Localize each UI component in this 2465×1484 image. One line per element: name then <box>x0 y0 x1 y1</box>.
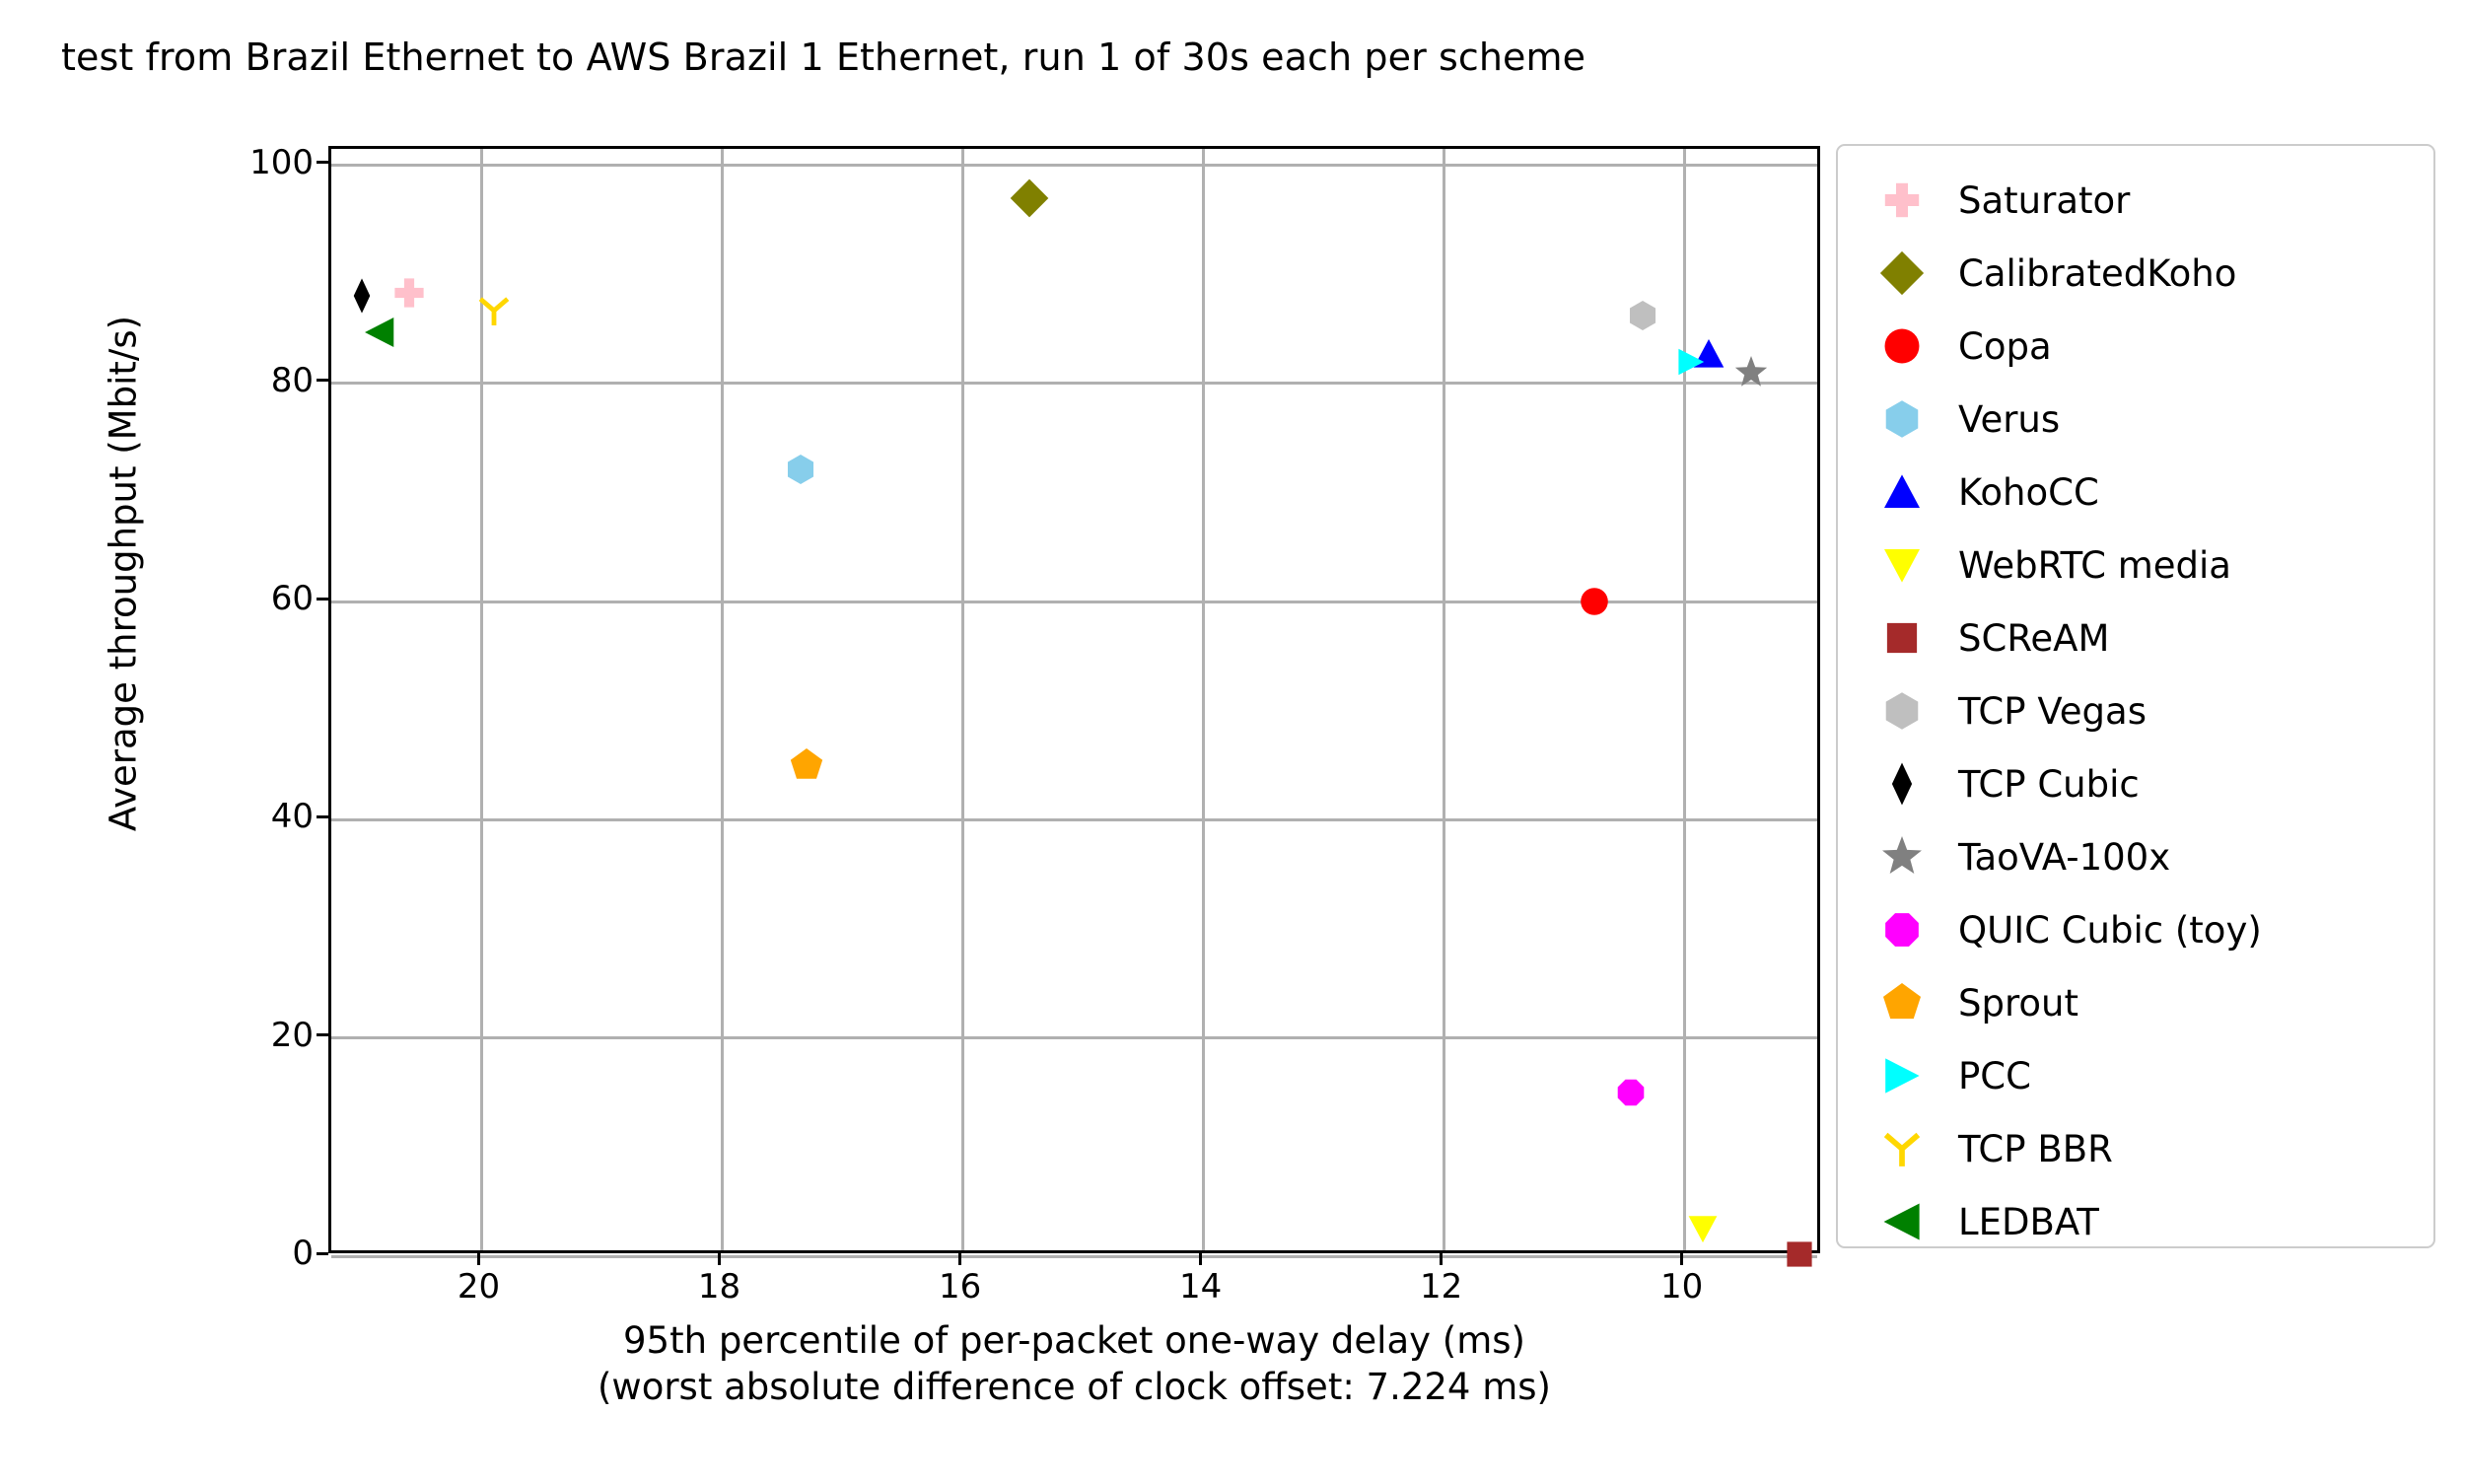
x-gridline <box>721 149 724 1250</box>
x-axis-tick <box>1440 1253 1443 1265</box>
data-point-sprout[interactable] <box>790 748 823 782</box>
y-axis-tick <box>317 379 328 382</box>
legend-item-label: TCP Vegas <box>1958 690 2147 733</box>
legend-item-label: TaoVA-100x <box>1958 836 2170 879</box>
legend-item-tcp-bbr[interactable]: TCP BBR <box>1838 1112 2433 1185</box>
y-axis-label: Average throughput (Mbit/s) <box>103 229 145 919</box>
legend-rows: SaturatorCalibratedKohoCopaVerusKohoCCWe… <box>1838 164 2433 1258</box>
legend-marker-icon <box>1860 674 1944 747</box>
legend-item-quic-cubic-toy[interactable]: QUIC Cubic (toy) <box>1838 893 2433 966</box>
x-axis-tick-label: 16 <box>939 1267 981 1307</box>
legend-marker-icon <box>1860 310 1944 383</box>
x-axis-tick-label: 14 <box>1179 1267 1222 1307</box>
data-point-pcc[interactable] <box>1676 347 1706 377</box>
plot-area <box>328 146 1820 1253</box>
y-axis-tick <box>317 598 328 601</box>
legend-item-label: QUIC Cubic (toy) <box>1958 909 2262 952</box>
y-axis-tick-label: 20 <box>271 1016 314 1055</box>
y-axis-tick-label: 100 <box>249 143 314 182</box>
legend-marker-icon <box>1860 1039 1944 1112</box>
x-gridline <box>961 149 964 1250</box>
x-gridline <box>1683 149 1686 1250</box>
legend-item-taova-100x[interactable]: TaoVA-100x <box>1838 820 2433 893</box>
legend-marker-icon <box>1860 1112 1944 1185</box>
legend-item-calibratedkoho[interactable]: CalibratedKoho <box>1838 237 2433 310</box>
x-axis-label-line2: (worst absolute difference of clock offs… <box>328 1364 1820 1410</box>
y-axis-tick-label: 80 <box>271 361 314 400</box>
legend-item-kohocc[interactable]: KohoCC <box>1838 456 2433 529</box>
x-axis-tick-label: 18 <box>698 1267 740 1307</box>
legend-marker-icon <box>1860 456 1944 529</box>
legend: SaturatorCalibratedKohoCopaVerusKohoCCWe… <box>1836 144 2435 1248</box>
y-gridline <box>331 1255 1817 1258</box>
x-axis-tick <box>1680 1253 1683 1265</box>
legend-marker-icon <box>1860 164 1944 237</box>
data-point-copa[interactable] <box>1580 587 1609 616</box>
legend-marker-icon <box>1860 237 1944 310</box>
legend-marker-icon <box>1860 820 1944 893</box>
x-gridline <box>1443 149 1445 1250</box>
y-axis-tick-label: 0 <box>292 1234 314 1273</box>
legend-item-ledbat[interactable]: LEDBAT <box>1838 1185 2433 1258</box>
x-axis-tick <box>1199 1253 1202 1265</box>
legend-item-label: CalibratedKoho <box>1958 252 2236 295</box>
legend-item-sprout[interactable]: Sprout <box>1838 966 2433 1039</box>
legend-marker-icon <box>1860 529 1944 601</box>
legend-item-label: PCC <box>1958 1055 2031 1097</box>
legend-item-label: SCReAM <box>1958 617 2109 660</box>
legend-item-label: Copa <box>1958 325 2052 368</box>
data-point-tcp-vegas[interactable] <box>1627 300 1658 331</box>
legend-item-label: TCP Cubic <box>1958 763 2140 806</box>
y-axis-tick <box>317 161 328 164</box>
figure-root: test from Brazil Ethernet to AWS Brazil … <box>0 0 2465 1484</box>
legend-item-webrtc-media[interactable]: WebRTC media <box>1838 529 2433 601</box>
x-axis-label-line1: 95th percentile of per-packet one-way de… <box>328 1317 1820 1364</box>
legend-item-label: WebRTC media <box>1958 544 2231 587</box>
legend-item-saturator[interactable]: Saturator <box>1838 164 2433 237</box>
legend-item-tcp-cubic[interactable]: TCP Cubic <box>1838 747 2433 820</box>
legend-item-label: TCP BBR <box>1958 1128 2113 1170</box>
data-point-ledbat[interactable] <box>363 316 396 349</box>
x-gridline <box>1202 149 1205 1250</box>
chart-title: test from Brazil Ethernet to AWS Brazil … <box>61 35 1585 79</box>
legend-marker-icon <box>1860 747 1944 820</box>
y-axis-tick <box>317 1252 328 1255</box>
legend-item-copa[interactable]: Copa <box>1838 310 2433 383</box>
x-axis-tick-label: 20 <box>458 1267 500 1307</box>
data-point-saturator[interactable] <box>392 276 426 310</box>
y-gridline <box>331 1036 1817 1039</box>
data-point-tcp-cubic[interactable] <box>344 278 380 314</box>
legend-item-label: Sprout <box>1958 982 2078 1025</box>
y-axis-tick <box>317 815 328 818</box>
legend-item-label: Verus <box>1958 398 2060 441</box>
x-axis-tick-label: 12 <box>1420 1267 1462 1307</box>
legend-marker-icon <box>1860 383 1944 456</box>
legend-marker-icon <box>1860 601 1944 674</box>
legend-item-label: LEDBAT <box>1958 1201 2099 1243</box>
legend-item-pcc[interactable]: PCC <box>1838 1039 2433 1112</box>
x-axis-tick-label: 10 <box>1660 1267 1703 1307</box>
data-point-tcp-bbr[interactable] <box>478 295 510 326</box>
legend-item-label: Saturator <box>1958 179 2130 222</box>
data-point-calibratedkoho[interactable] <box>1009 177 1050 219</box>
data-point-quic-cubic-toy[interactable] <box>1616 1078 1646 1107</box>
y-axis-tick-label: 60 <box>271 579 314 618</box>
legend-marker-icon <box>1860 1185 1944 1258</box>
data-point-taova-100x[interactable] <box>1734 356 1768 389</box>
legend-marker-icon <box>1860 893 1944 966</box>
data-point-verus[interactable] <box>785 454 816 485</box>
x-axis-tick <box>477 1253 480 1265</box>
data-point-webrtc-media[interactable] <box>1687 1213 1719 1244</box>
y-gridline <box>331 382 1817 385</box>
y-axis-tick-label: 40 <box>271 797 314 836</box>
legend-item-tcp-vegas[interactable]: TCP Vegas <box>1838 674 2433 747</box>
x-axis-tick <box>718 1253 721 1265</box>
y-gridline <box>331 164 1817 167</box>
y-gridline <box>331 818 1817 821</box>
legend-item-verus[interactable]: Verus <box>1838 383 2433 456</box>
legend-marker-icon <box>1860 966 1944 1039</box>
x-axis-label: 95th percentile of per-packet one-way de… <box>328 1317 1820 1411</box>
data-point-scream[interactable] <box>1785 1239 1814 1269</box>
legend-item-scream[interactable]: SCReAM <box>1838 601 2433 674</box>
x-axis-tick <box>958 1253 961 1265</box>
legend-item-label: KohoCC <box>1958 471 2099 514</box>
y-axis-tick <box>317 1033 328 1036</box>
